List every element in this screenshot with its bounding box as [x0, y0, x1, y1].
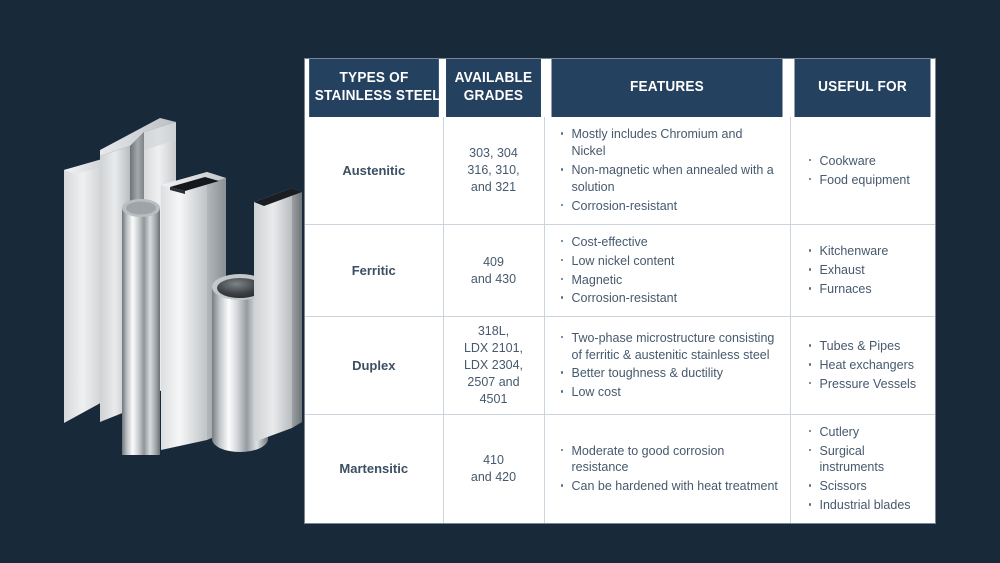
list-item: Better toughness & ductility — [559, 365, 780, 382]
steel-grades: 409 and 430 — [443, 224, 544, 317]
list-item: Exhaust — [807, 262, 926, 279]
list-item: Two-phase microstructure consisting of f… — [559, 330, 780, 364]
steel-useful-for: Cutlery Surgical instruments Scissors In… — [790, 414, 935, 523]
grade-line: LDX 2304, — [450, 357, 538, 374]
steel-grades: 318L, LDX 2101, LDX 2304, 2507 and 4501 — [443, 317, 544, 414]
list-item: Can be hardened with heat treatment — [559, 478, 780, 495]
grade-line: 409 — [450, 254, 538, 271]
steel-profiles-svg — [40, 110, 310, 455]
features-list: Moderate to good corrosion resistance Ca… — [559, 443, 780, 496]
steel-grades: 410 and 420 — [443, 414, 544, 523]
grade-line: and 420 — [450, 469, 538, 486]
stainless-steel-comparison-table: TYPES OF STAINLESS STEEL AVAILABLE GRADE… — [305, 59, 935, 523]
table-header: TYPES OF STAINLESS STEEL AVAILABLE GRADE… — [305, 59, 935, 117]
list-item: Non-magnetic when annealed with a soluti… — [559, 162, 780, 196]
steel-grades: 303, 304 316, 310, and 321 — [443, 117, 544, 224]
grade-line: and 430 — [450, 271, 538, 288]
steel-features: Two-phase microstructure consisting of f… — [544, 317, 790, 414]
useful-for-list: Tubes & Pipes Heat exchangers Pressure V… — [807, 338, 926, 393]
list-item: Cookware — [807, 153, 926, 170]
flat-bar-right-icon — [254, 188, 302, 442]
list-item: Kitchenware — [807, 243, 926, 260]
steel-features: Moderate to good corrosion resistance Ca… — [544, 414, 790, 523]
list-item: Low cost — [559, 384, 780, 401]
column-header-features: FEATURES — [551, 59, 782, 117]
table-row: Martensitic 410 and 420 Moderate to good… — [305, 414, 935, 523]
grade-line: LDX 2101, — [450, 340, 538, 357]
list-item: Industrial blades — [807, 497, 926, 514]
steel-useful-for: Kitchenware Exhaust Furnaces — [790, 224, 935, 317]
steel-profiles-illustration — [40, 110, 310, 455]
useful-for-list: Cookware Food equipment — [807, 153, 926, 189]
steel-type-name: Duplex — [305, 317, 443, 414]
useful-for-list: Kitchenware Exhaust Furnaces — [807, 243, 926, 298]
list-item: Cost-effective — [559, 234, 780, 251]
column-header-useful-for: USEFUL FOR — [794, 59, 930, 117]
list-item: Moderate to good corrosion resistance — [559, 443, 780, 477]
list-item: Corrosion-resistant — [559, 198, 780, 215]
list-item: Corrosion-resistant — [559, 290, 780, 307]
list-item: Scissors — [807, 478, 926, 495]
useful-for-list: Cutlery Surgical instruments Scissors In… — [807, 424, 926, 514]
grade-line: and 321 — [450, 179, 538, 196]
steel-type-name: Martensitic — [305, 414, 443, 523]
table-header-row: TYPES OF STAINLESS STEEL AVAILABLE GRADE… — [305, 59, 935, 117]
list-item: Tubes & Pipes — [807, 338, 926, 355]
list-item: Surgical instruments — [807, 443, 926, 477]
table-row: Austenitic 303, 304 316, 310, and 321 Mo… — [305, 117, 935, 224]
list-item: Furnaces — [807, 281, 926, 298]
steel-useful-for: Cookware Food equipment — [790, 117, 935, 224]
grade-line: 410 — [450, 452, 538, 469]
features-list: Mostly includes Chromium and Nickel Non-… — [559, 126, 780, 214]
list-item: Cutlery — [807, 424, 926, 441]
column-header-useful-for-line-1: USEFUL FOR — [800, 79, 925, 97]
column-header-grades-line-1: AVAILABLE — [452, 70, 536, 88]
steel-type-name: Austenitic — [305, 117, 443, 224]
steel-features: Mostly includes Chromium and Nickel Non-… — [544, 117, 790, 224]
list-item: Food equipment — [807, 172, 926, 189]
list-item: Magnetic — [559, 272, 780, 289]
list-item: Pressure Vessels — [807, 376, 926, 393]
list-item: Heat exchangers — [807, 357, 926, 374]
grade-line: 303, 304 — [450, 145, 538, 162]
steel-features: Cost-effective Low nickel content Magnet… — [544, 224, 790, 317]
grade-line: 316, 310, — [450, 162, 538, 179]
column-header-grades: AVAILABLE GRADES — [446, 59, 541, 117]
table-row: Duplex 318L, LDX 2101, LDX 2304, 2507 an… — [305, 317, 935, 414]
grade-line: 4501 — [450, 391, 538, 408]
steel-useful-for: Tubes & Pipes Heat exchangers Pressure V… — [790, 317, 935, 414]
grade-line: 2507 and — [450, 374, 538, 391]
features-list: Two-phase microstructure consisting of f… — [559, 330, 780, 402]
list-item: Low nickel content — [559, 253, 780, 270]
grade-line: 318L, — [450, 323, 538, 340]
column-header-grades-line-2: GRADES — [452, 88, 536, 106]
table-row: Ferritic 409 and 430 Cost-effective Low … — [305, 224, 935, 317]
column-header-features-line-1: FEATURES — [557, 79, 777, 97]
features-list: Cost-effective Low nickel content Magnet… — [559, 234, 780, 308]
column-header-types: TYPES OF STAINLESS STEEL — [309, 59, 439, 117]
table-body: Austenitic 303, 304 316, 310, and 321 Mo… — [305, 117, 935, 523]
round-bar-icon — [122, 199, 160, 455]
column-header-types-line-2: STAINLESS STEEL — [315, 88, 433, 106]
list-item: Mostly includes Chromium and Nickel — [559, 126, 780, 160]
steel-type-name: Ferritic — [305, 224, 443, 317]
column-header-types-line-1: TYPES OF — [315, 70, 433, 88]
